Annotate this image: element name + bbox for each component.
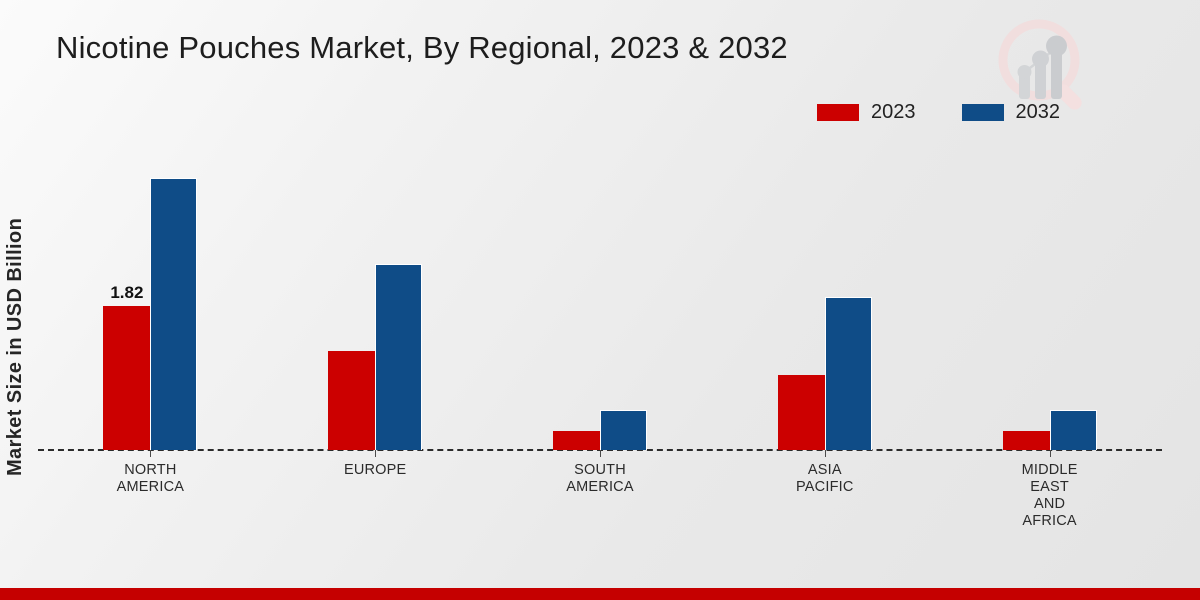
bar-2023-north-america[interactable]: 1.82 — [103, 306, 150, 450]
bar-2032-middle-east-and-africa[interactable] — [1050, 410, 1097, 450]
x-axis-category-label: MIDDLEEASTANDAFRICA — [965, 462, 1135, 530]
bar-pair — [488, 150, 713, 450]
bar-2032-north-america[interactable] — [150, 178, 197, 450]
bar-group: 1.82NORTHAMERICA — [38, 150, 263, 450]
bar-2023-asia-pacific[interactable] — [778, 375, 825, 450]
bar-pair — [263, 150, 488, 450]
x-axis-tick — [375, 450, 376, 457]
bar-2023-middle-east-and-africa[interactable] — [1003, 431, 1050, 450]
bar-group: SOUTHAMERICA — [488, 150, 713, 450]
category-label-line: EUROPE — [290, 462, 460, 479]
plot-area: 1.82NORTHAMERICAEUROPESOUTHAMERICAASIAPA… — [0, 0, 1200, 560]
x-axis-tick — [1050, 450, 1051, 457]
bar-value-label: 1.82 — [110, 283, 143, 303]
category-label-line: AMERICA — [515, 479, 685, 496]
bar-group: ASIAPACIFIC — [712, 150, 937, 450]
footer-accent-band — [0, 588, 1200, 600]
category-label-line: AFRICA — [965, 513, 1135, 530]
x-axis-category-label: SOUTHAMERICA — [515, 462, 685, 496]
x-axis-category-label: NORTHAMERICA — [65, 462, 235, 496]
x-axis-category-label: ASIAPACIFIC — [740, 462, 910, 496]
x-axis-category-label: EUROPE — [290, 462, 460, 479]
bar-pair — [712, 150, 937, 450]
category-label-line: AMERICA — [65, 479, 235, 496]
bar-pair — [937, 150, 1162, 450]
bar-pair: 1.82 — [38, 150, 263, 450]
bar-2023-south-america[interactable] — [553, 431, 600, 450]
category-label-line: ASIA — [740, 462, 910, 479]
bar-2032-south-america[interactable] — [600, 410, 647, 450]
category-label-line: AND — [965, 496, 1135, 513]
bar-2023-europe[interactable] — [328, 351, 375, 450]
category-label-line: MIDDLE — [965, 462, 1135, 479]
bar-group: MIDDLEEASTANDAFRICA — [937, 150, 1162, 450]
chart-container: Nicotine Pouches Market, By Regional, 20… — [0, 0, 1200, 600]
bar-2032-asia-pacific[interactable] — [825, 297, 872, 450]
x-axis-tick — [825, 450, 826, 457]
x-axis-tick — [150, 450, 151, 457]
category-label-line: EAST — [965, 479, 1135, 496]
bar-2032-europe[interactable] — [375, 264, 422, 450]
category-label-line: PACIFIC — [740, 479, 910, 496]
category-label-line: NORTH — [65, 462, 235, 479]
x-axis-tick — [600, 450, 601, 457]
bar-group: EUROPE — [263, 150, 488, 450]
category-label-line: SOUTH — [515, 462, 685, 479]
bar-groups: 1.82NORTHAMERICAEUROPESOUTHAMERICAASIAPA… — [38, 150, 1162, 450]
